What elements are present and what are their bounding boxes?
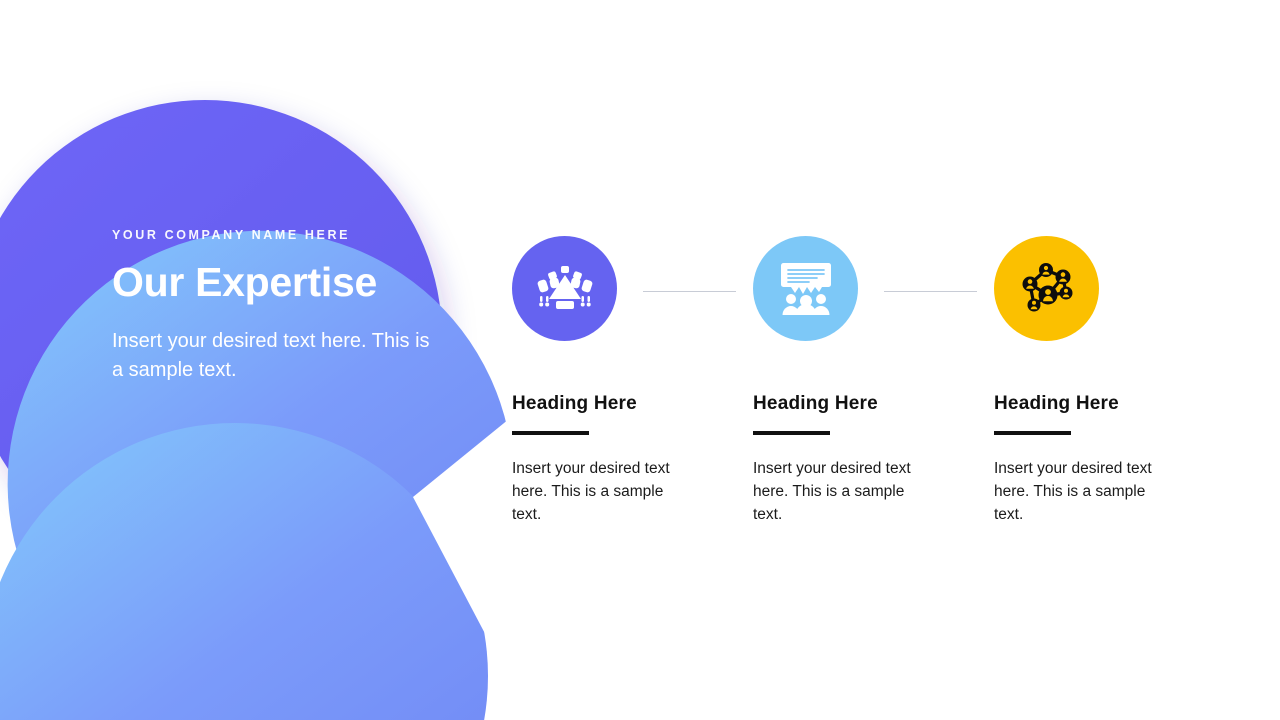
blue-circle-cut [413, 410, 520, 700]
conference-table-icon [537, 265, 593, 313]
column-card-3: Heading Here Insert your desired text he… [994, 393, 1174, 527]
icon-badge-2[interactable] [753, 236, 858, 341]
icon-badge-3[interactable] [994, 236, 1099, 341]
presentation-audience-icon [779, 263, 833, 315]
blue-circle-body [0, 423, 488, 720]
column-card-1: Heading Here Insert your desired text he… [512, 393, 753, 527]
heading-underline [512, 431, 589, 435]
icon-badge-1[interactable] [512, 236, 617, 341]
column-heading: Heading Here [512, 393, 753, 416]
hero-text-block: YOUR COMPANY NAME HERE Our Expertise Ins… [112, 228, 442, 385]
icon-row-container [512, 236, 1172, 349]
column-heading: Heading Here [753, 393, 994, 416]
icon-row [512, 236, 1172, 349]
column-body-text: Insert your desired text here. This is a… [753, 457, 933, 527]
column-card-2: Heading Here Insert your desired text he… [753, 393, 994, 527]
column-heading: Heading Here [994, 393, 1174, 416]
connector-line-1 [643, 291, 736, 292]
network-people-icon [1019, 262, 1075, 316]
slide-canvas: YOUR COMPANY NAME HERE Our Expertise Ins… [0, 0, 1280, 720]
columns-container: Heading Here Insert your desired text he… [512, 393, 1192, 527]
connector-line-2 [884, 291, 977, 292]
column-body-text: Insert your desired text here. This is a… [994, 457, 1174, 527]
column-body-text: Insert your desired text here. This is a… [512, 457, 692, 527]
hero-subtitle: Insert your desired text here. This is a… [112, 327, 432, 385]
company-name-eyebrow: YOUR COMPANY NAME HERE [112, 228, 442, 243]
heading-underline [753, 431, 830, 435]
page-title: Our Expertise [112, 260, 442, 305]
heading-underline [994, 431, 1071, 435]
